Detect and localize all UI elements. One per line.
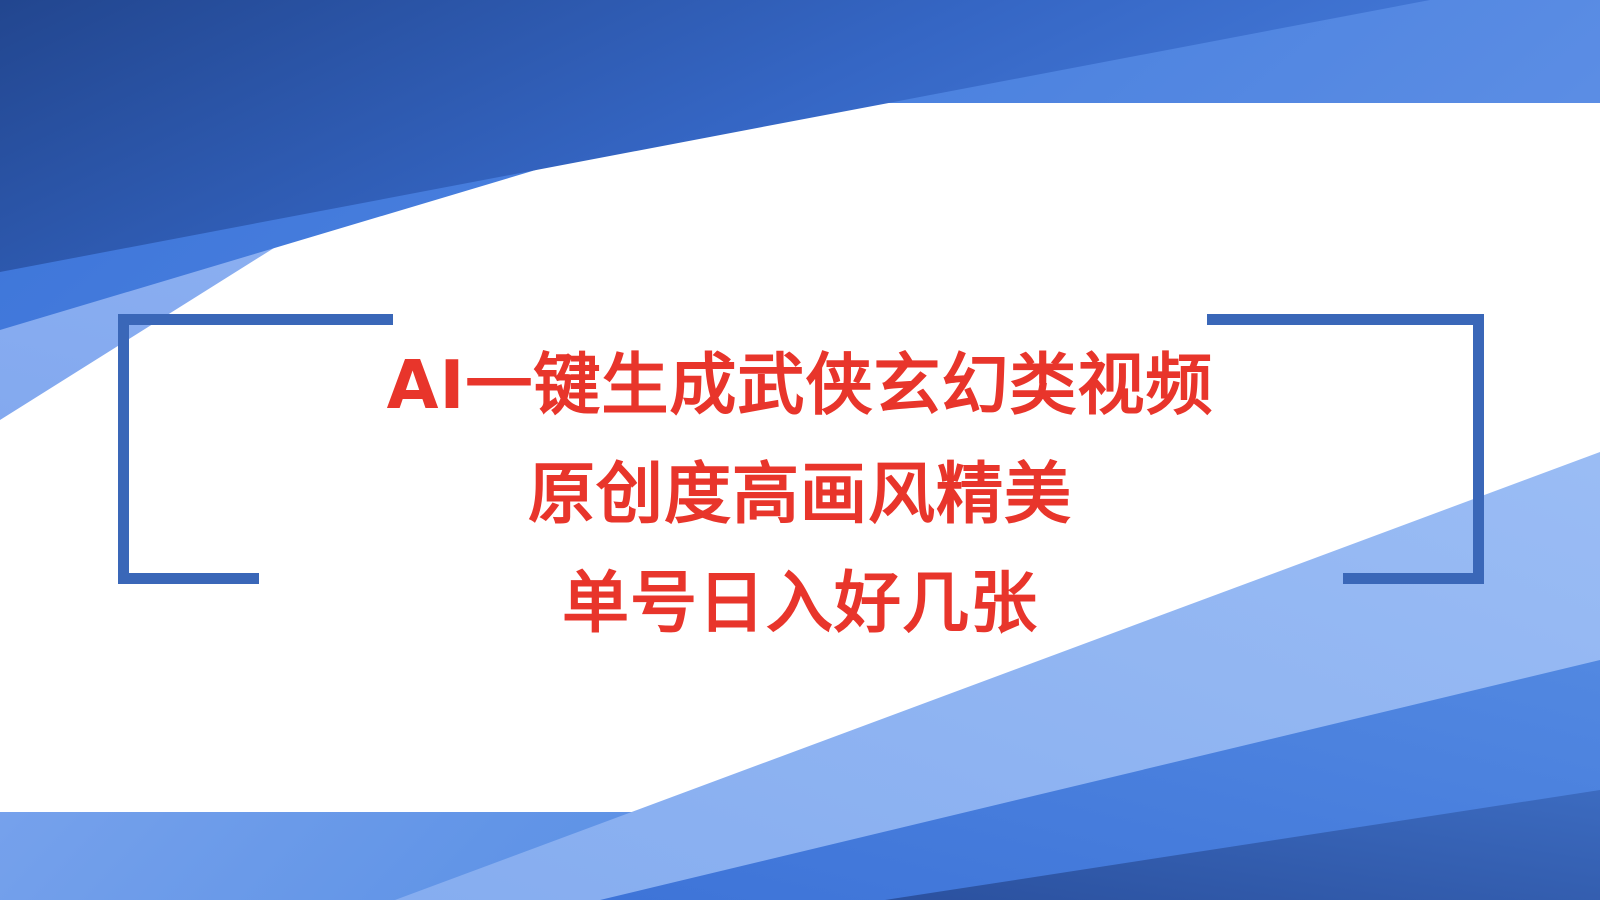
headline-line-1: AI一键生成武侠玄幻类视频: [0, 352, 1600, 419]
headline-line-3: 单号日入好几张: [0, 570, 1600, 637]
poster-canvas: AI一键生成武侠玄幻类视频 原创度高画风精美 单号日入好几张: [0, 0, 1600, 900]
headline-block: AI一键生成武侠玄幻类视频 原创度高画风精美 单号日入好几张: [0, 352, 1600, 637]
headline-line-2: 原创度高画风精美: [0, 461, 1600, 528]
